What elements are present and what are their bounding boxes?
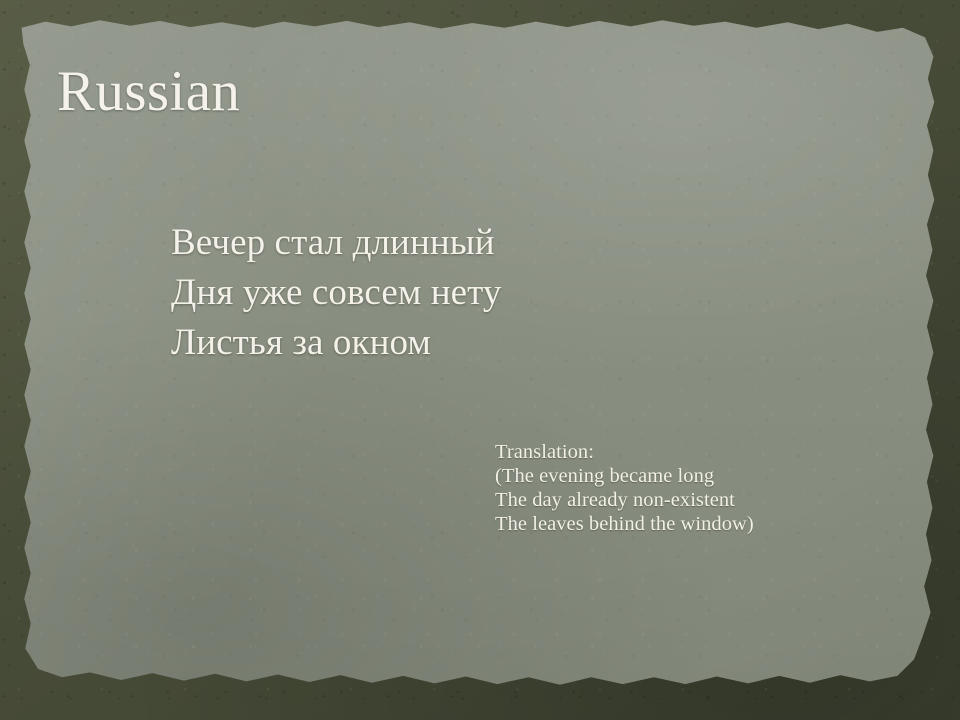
translation-label: Translation: xyxy=(495,440,754,464)
presentation-slide: Russian Вечер стал длинный Дня уже совсе… xyxy=(0,0,960,720)
russian-poem: Вечер стал длинный Дня уже совсем нету Л… xyxy=(171,218,502,368)
translation-line-3: The leaves behind the window) xyxy=(495,512,754,536)
translation-line-2: The day already non-existent xyxy=(495,488,754,512)
translation-block: Translation: (The evening became long Th… xyxy=(495,440,754,536)
poem-line-3: Листья за окном xyxy=(171,318,502,368)
translation-line-1: (The evening became long xyxy=(495,464,754,488)
poem-line-2: Дня уже совсем нету xyxy=(171,268,502,318)
slide-title: Russian xyxy=(57,62,240,122)
poem-line-1: Вечер стал длинный xyxy=(171,218,502,268)
